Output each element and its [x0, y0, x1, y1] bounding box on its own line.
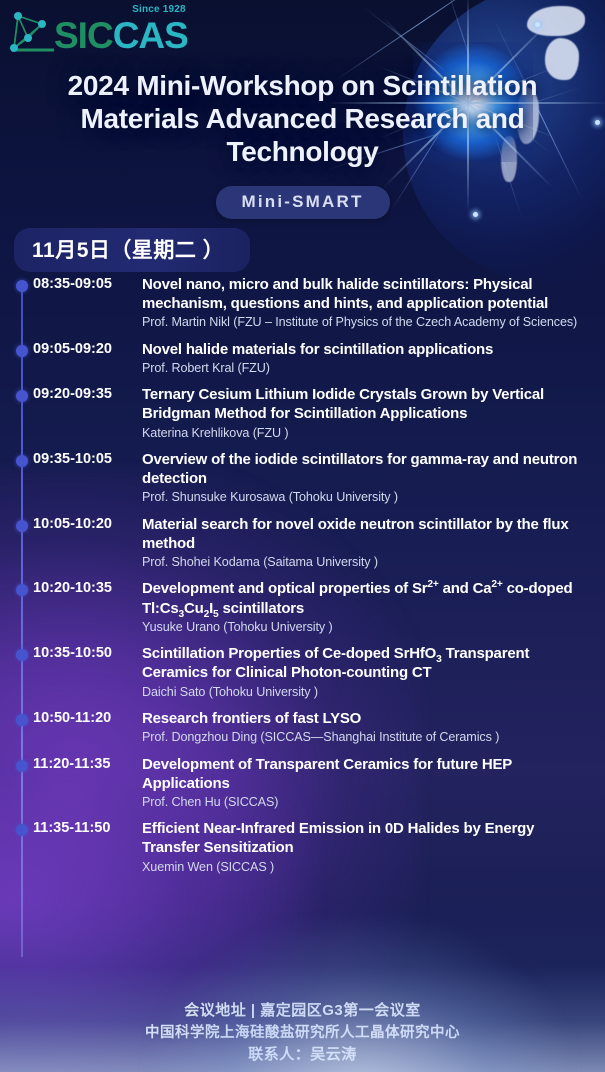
background-bottom-sheen — [150, 922, 570, 1072]
schedule-item-time: 08:35-09:05 — [33, 275, 137, 331]
timeline-bullet-icon — [16, 390, 28, 402]
schedule-item[interactable]: 09:20-09:35Ternary Cesium Lithium Iodide… — [0, 385, 605, 441]
schedule-item-body: Material search for novel oxide neutron … — [137, 515, 591, 571]
timeline-bullet-icon — [16, 455, 28, 467]
schedule-item[interactable]: 09:05-09:20Novel halide materials for sc… — [0, 340, 605, 377]
schedule-item-title: Ternary Cesium Lithium Iodide Crystals G… — [142, 385, 591, 423]
network-node — [473, 212, 478, 217]
schedule-item[interactable]: 11:35-11:50Efficient Near-Infrared Emiss… — [0, 819, 605, 875]
logo-since-label: Since 1928 — [132, 4, 186, 15]
schedule-item[interactable]: 10:05-10:20Material search for novel oxi… — [0, 515, 605, 571]
timeline-bullet-icon — [16, 649, 28, 661]
schedule-item-body: Scintillation Properties of Ce-doped SrH… — [137, 644, 591, 700]
timeline-bullet-icon — [16, 584, 28, 596]
schedule-item-title: Overview of the iodide scintillators for… — [142, 450, 591, 488]
schedule-item-speaker: Prof. Dongzhou Ding (SICCAS—Shanghai Ins… — [142, 729, 591, 745]
schedule-item[interactable]: 10:35-10:50Scintillation Properties of C… — [0, 644, 605, 700]
schedule-item-title: Novel halide materials for scintillation… — [142, 340, 591, 359]
schedule-item-time: 09:05-09:20 — [33, 340, 137, 377]
timeline-bullet-icon — [16, 760, 28, 772]
schedule-item-body: Overview of the iodide scintillators for… — [137, 450, 591, 506]
schedule-item-time: 10:35-10:50 — [33, 644, 137, 700]
schedule-item-speaker: Yusuke Urano (Tohoku University ) — [142, 619, 591, 635]
schedule-item-body: Efficient Near-Infrared Emission in 0D H… — [137, 819, 591, 875]
logo-cas-text: CAS — [113, 15, 188, 56]
schedule-item-body: Research frontiers of fast LYSOProf. Don… — [137, 709, 591, 746]
schedule-item-speaker: Prof. Shunsuke Kurosawa (Tohoku Universi… — [142, 489, 591, 505]
schedule-item-title: Efficient Near-Infrared Emission in 0D H… — [142, 819, 591, 857]
timeline-bullet-icon — [16, 714, 28, 726]
schedule-item-speaker: Prof. Robert Kral (FZU) — [142, 360, 591, 376]
logo-wordmark: Since 1928 SICCAS — [54, 17, 188, 54]
schedule-item-title: Novel nano, micro and bulk halide scinti… — [142, 275, 591, 313]
schedule-item-time: 09:35-10:05 — [33, 450, 137, 506]
schedule-item[interactable]: 10:50-11:20Research frontiers of fast LY… — [0, 709, 605, 746]
schedule-item-speaker: Xuemin Wen (SICCAS ) — [142, 859, 591, 875]
schedule-item-title: Scintillation Properties of Ce-doped SrH… — [142, 644, 591, 682]
schedule-item-speaker: Prof. Chen Hu (SICCAS) — [142, 794, 591, 810]
schedule-item-title: Material search for novel oxide neutron … — [142, 515, 591, 553]
schedule-item-speaker: Prof. Shohei Kodama (Saitama University … — [142, 554, 591, 570]
schedule-item-body: Novel halide materials for scintillation… — [137, 340, 591, 377]
timeline-bullet-icon — [16, 345, 28, 357]
mini-smart-badge: Mini-SMART — [215, 186, 389, 219]
schedule-item-speaker: Katerina Krehlikova (FZU ) — [142, 425, 591, 441]
schedule-item[interactable]: 08:35-09:05Novel nano, micro and bulk ha… — [0, 275, 605, 331]
logo-sic-text: SIC — [54, 15, 113, 56]
timeline-bullet-icon — [16, 280, 28, 292]
schedule-item[interactable]: 10:20-10:35Development and optical prope… — [0, 579, 605, 635]
schedule-list: 08:35-09:05Novel nano, micro and bulk ha… — [0, 275, 605, 884]
schedule-item-time: 09:20-09:35 — [33, 385, 137, 441]
schedule-item[interactable]: 09:35-10:05Overview of the iodide scinti… — [0, 450, 605, 506]
schedule-item[interactable]: 11:20-11:35Development of Transparent Ce… — [0, 755, 605, 811]
continent-shape — [527, 6, 585, 36]
schedule-item-body: Development of Transparent Ceramics for … — [137, 755, 591, 811]
timeline-bullet-icon — [16, 520, 28, 532]
timeline-bullet-icon — [16, 824, 28, 836]
page-title: 2024 Mini-Workshop on Scintillation Mate… — [0, 70, 605, 168]
schedule-item-time: 11:35-11:50 — [33, 819, 137, 875]
conference-poster: Since 1928 SICCAS 2024 Mini-Workshop on … — [0, 0, 605, 1072]
siccas-logo: Since 1928 SICCAS — [8, 8, 188, 54]
schedule-item-title: Development and optical properties of Sr… — [142, 579, 591, 617]
network-node — [535, 22, 540, 27]
schedule-item-speaker: Daichi Sato (Tohoku University ) — [142, 684, 591, 700]
schedule-item-time: 11:20-11:35 — [33, 755, 137, 811]
schedule-item-time: 10:50-11:20 — [33, 709, 137, 746]
schedule-item-title: Research frontiers of fast LYSO — [142, 709, 591, 728]
schedule-item-time: 10:20-10:35 — [33, 579, 137, 635]
schedule-item-title: Development of Transparent Ceramics for … — [142, 755, 591, 793]
schedule-item-speaker: Prof. Martin Nikl (FZU – Institute of Ph… — [142, 314, 591, 330]
date-badge: 11月5日（星期二 ） — [14, 228, 250, 272]
schedule-item-body: Ternary Cesium Lithium Iodide Crystals G… — [137, 385, 591, 441]
schedule-item-time: 10:05-10:20 — [33, 515, 137, 571]
schedule-item-body: Novel nano, micro and bulk halide scinti… — [137, 275, 591, 331]
schedule-item-body: Development and optical properties of Sr… — [137, 579, 591, 635]
crystal-network-icon — [8, 10, 60, 54]
